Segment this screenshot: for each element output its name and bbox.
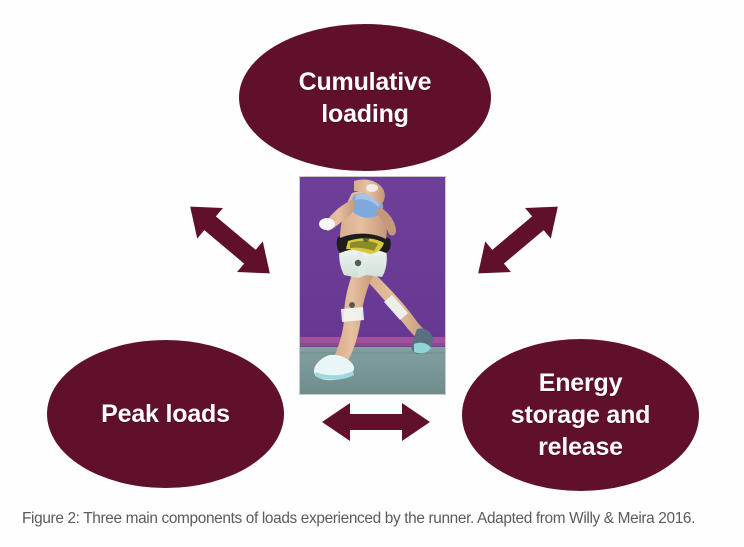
arrow-peak-to-cumulative	[180, 184, 280, 296]
node-peak-loads: Peak loads	[47, 340, 284, 488]
figure-container: Cumulative loading Peak loads Energy sto…	[0, 0, 744, 547]
arrow-peak-to-energy	[318, 399, 434, 445]
runner-photo-artwork	[300, 177, 445, 394]
runner-photo	[299, 176, 446, 395]
figure-caption: Figure 2: Three main components of loads…	[22, 509, 732, 530]
node-cumulative-loading: Cumulative loading	[239, 24, 491, 171]
node-label-cumulative-loading: Cumulative loading	[299, 66, 432, 130]
node-label-peak-loads: Peak loads	[101, 398, 230, 430]
node-label-energy-storage: Energy storage and release	[511, 367, 651, 463]
node-energy-storage: Energy storage and release	[462, 339, 699, 491]
arrow-cumulative-to-energy	[468, 184, 568, 296]
